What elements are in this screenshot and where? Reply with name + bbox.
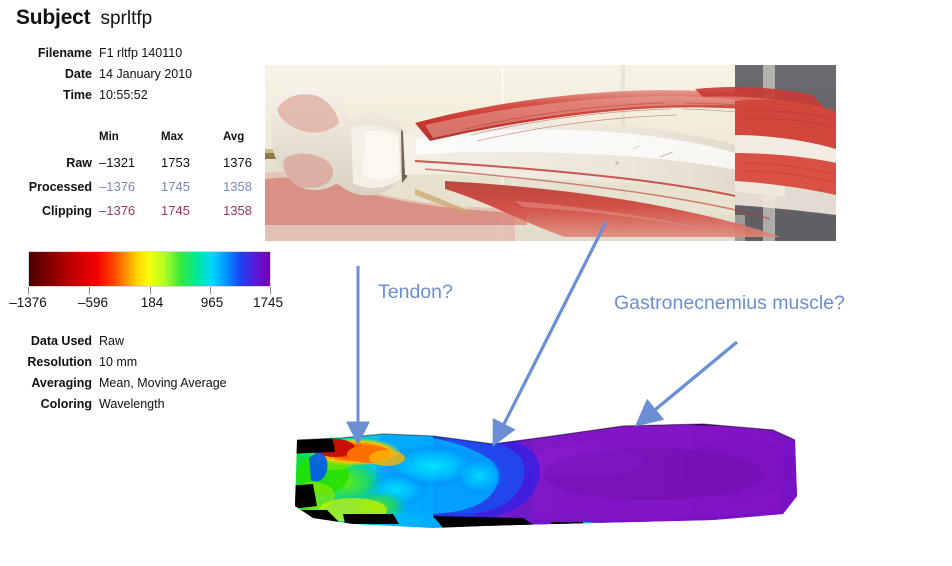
- cell-clipping-max: 1745: [161, 203, 223, 227]
- color-gradient-bar: [28, 251, 271, 287]
- cell-raw-min: –1321: [99, 155, 161, 179]
- settings-value-data-used: Raw: [99, 334, 124, 348]
- settings-value-coloring: Wavelength: [99, 397, 165, 411]
- colorbar-tick-label-4: 1745: [253, 295, 283, 310]
- colorbar-tick: [28, 287, 29, 294]
- colorbar-tick: [150, 287, 151, 294]
- table-row: Processed –1376 1745 1358: [0, 179, 285, 203]
- cell-processed-max: 1745: [161, 179, 223, 203]
- settings-row-resolution: Resolution 10 mm: [0, 355, 227, 376]
- colorbar-tick: [89, 287, 90, 294]
- row-header-processed: Processed: [0, 179, 99, 203]
- column-header-max: Max: [161, 131, 223, 155]
- row-header-clipping: Clipping: [0, 203, 99, 227]
- anatomy-photo-graphic: [265, 65, 836, 241]
- wavelength-scan-map: [283, 418, 807, 538]
- metadata-row-filename: Filename F1 rltfp 140110: [0, 46, 192, 67]
- settings-value-averaging: Mean, Moving Average: [99, 376, 227, 390]
- settings-key-averaging: Averaging: [0, 376, 99, 390]
- metadata-row-time: Time 10:55:52: [0, 88, 192, 109]
- subject-value: sprltfp: [100, 8, 152, 30]
- cell-raw-max: 1753: [161, 155, 223, 179]
- colorbar-tick: [270, 287, 271, 294]
- settings-value-resolution: 10 mm: [99, 355, 137, 369]
- settings-row-coloring: Coloring Wavelength: [0, 397, 227, 418]
- gastrocnemius-arrow: [650, 342, 737, 414]
- settings-row-data-used: Data Used Raw: [0, 334, 227, 355]
- table-row: Raw –1321 1753 1376: [0, 155, 285, 179]
- metadata-key-time: Time: [0, 88, 99, 102]
- metadata-value-time: 10:55:52: [99, 88, 148, 102]
- cell-clipping-min: –1376: [99, 203, 161, 227]
- metadata-key-filename: Filename: [0, 46, 99, 60]
- colorbar-tick-label-1: –596: [78, 295, 108, 310]
- table-corner-cell: [0, 131, 99, 155]
- metadata-key-date: Date: [0, 67, 99, 81]
- statistics-table: Min Max Avg Raw –1321 1753 1376 Processe…: [0, 131, 285, 227]
- table-header-row: Min Max Avg: [0, 131, 285, 155]
- settings-key-resolution: Resolution: [0, 355, 99, 369]
- settings-row-averaging: Averaging Mean, Moving Average: [0, 376, 227, 397]
- settings-key-data-used: Data Used: [0, 334, 99, 348]
- metadata-row-date: Date 14 January 2010: [0, 67, 192, 88]
- settings-key-coloring: Coloring: [0, 397, 99, 411]
- tendon-annotation-label: Tendon?: [378, 281, 453, 304]
- photo-to-map-arrow: [501, 222, 606, 430]
- table-row: Clipping –1376 1745 1358: [0, 203, 285, 227]
- colorbar-tick-label-3: 965: [201, 295, 224, 310]
- colorbar-tick-label-2: 184: [141, 295, 164, 310]
- processing-settings-list: Data Used Raw Resolution 10 mm Averaging…: [0, 334, 227, 418]
- colorbar-tick-label-0: –1376: [9, 295, 47, 310]
- wavelength-scan-graphic: [283, 418, 807, 538]
- file-metadata-list: Filename F1 rltfp 140110 Date 14 January…: [0, 46, 192, 109]
- anatomy-photo: [265, 65, 836, 241]
- metadata-value-filename: F1 rltfp 140110: [99, 46, 182, 60]
- colorbar-tick: [210, 287, 211, 294]
- page-title: Subject sprltfp: [16, 6, 152, 30]
- row-header-raw: Raw: [0, 155, 99, 179]
- gastrocnemius-annotation-label: Gastronecnemius muscle?: [614, 292, 845, 315]
- metadata-value-date: 14 January 2010: [99, 67, 192, 81]
- cell-processed-min: –1376: [99, 179, 161, 203]
- column-header-min: Min: [99, 131, 161, 155]
- subject-label: Subject: [16, 6, 90, 30]
